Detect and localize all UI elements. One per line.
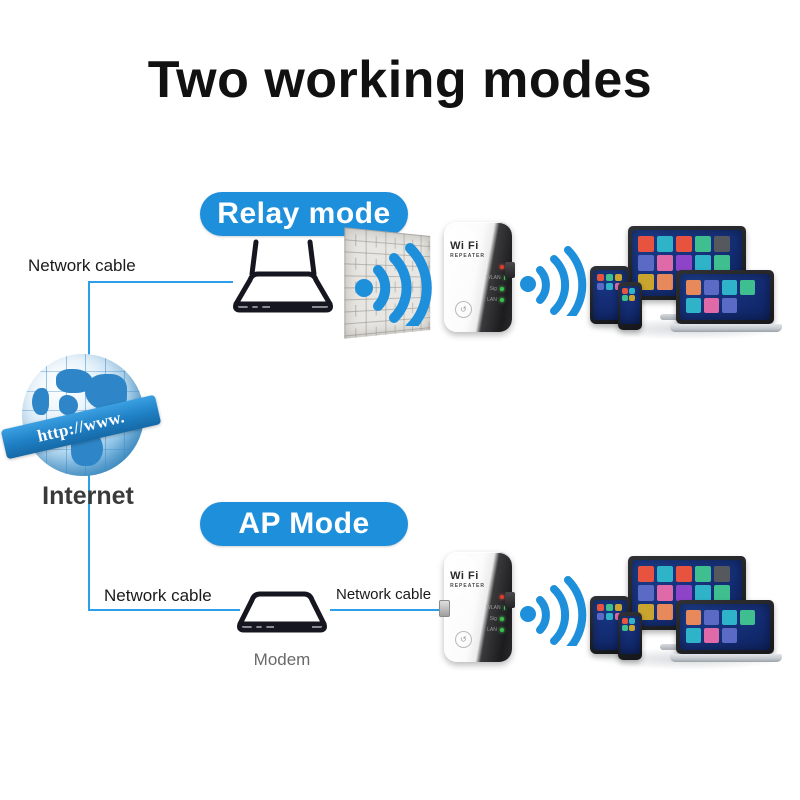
wifi-router-icon bbox=[226, 238, 338, 324]
led-signal bbox=[500, 287, 504, 291]
app-tile bbox=[638, 255, 654, 271]
app-tile bbox=[686, 280, 701, 295]
app-tile bbox=[676, 585, 692, 601]
app-tile bbox=[657, 604, 673, 620]
app-tile bbox=[597, 604, 604, 611]
laptop-screen bbox=[680, 274, 770, 320]
cable-modem-to-repeater bbox=[330, 609, 440, 611]
repeater-brand-ap: Wi Fi REPEATER bbox=[450, 571, 489, 589]
app-tile bbox=[606, 283, 613, 290]
app-tile bbox=[629, 618, 635, 624]
app-tile bbox=[629, 295, 635, 301]
led-label-wlan: WLAN bbox=[486, 275, 500, 281]
internet-label: Internet bbox=[8, 482, 168, 511]
modem-label: Modem bbox=[232, 650, 332, 670]
app-tile bbox=[597, 274, 604, 281]
app-tile bbox=[622, 288, 628, 294]
app-tile bbox=[606, 604, 613, 611]
app-tile bbox=[657, 274, 673, 290]
wps-button-icon-ap[interactable]: ↺ bbox=[455, 631, 472, 648]
app-tile bbox=[657, 255, 673, 271]
globe-icon: http://www. bbox=[8, 352, 168, 482]
repeater-brand-line2: REPEATER bbox=[450, 254, 489, 259]
app-tile bbox=[722, 280, 737, 295]
repeater-led-panel: WLAN Sig LAN bbox=[486, 262, 504, 306]
laptop-tiles bbox=[686, 280, 764, 313]
cable-label-relay: Network cable bbox=[28, 256, 136, 276]
relay-mode-label: Relay mode bbox=[217, 197, 390, 231]
led-power-ap bbox=[500, 595, 504, 599]
repeater-brand-ap-line2: REPEATER bbox=[450, 584, 489, 589]
app-tile bbox=[638, 236, 654, 252]
wifi-signal-relay-out-icon bbox=[516, 244, 588, 316]
app-tile bbox=[606, 613, 613, 620]
app-tile bbox=[657, 566, 673, 582]
relay-mode-pill[interactable]: Relay mode bbox=[200, 192, 408, 236]
wifi-repeater-ap: Wi Fi REPEATER WLAN Sig LAN ↺ bbox=[444, 552, 512, 662]
app-tile bbox=[657, 585, 673, 601]
phone-screen bbox=[620, 286, 640, 324]
led-label-wlan-ap: WLAN bbox=[486, 605, 500, 611]
laptop-tiles-ap bbox=[686, 610, 764, 643]
app-tile bbox=[686, 628, 701, 643]
led-label-signal-ap: Sig bbox=[490, 616, 497, 622]
app-tile bbox=[676, 255, 692, 271]
app-tile bbox=[676, 236, 692, 252]
led-label-lan-ap: LAN bbox=[487, 627, 497, 633]
app-tile bbox=[629, 288, 635, 294]
app-tile bbox=[622, 295, 628, 301]
led-power bbox=[500, 265, 504, 269]
app-tile bbox=[695, 585, 711, 601]
app-tile bbox=[629, 625, 635, 631]
app-tile bbox=[714, 255, 730, 271]
app-tile bbox=[606, 274, 613, 281]
wifi-signal-through-wall-icon bbox=[348, 242, 434, 326]
led-label-signal: Sig bbox=[490, 286, 497, 292]
app-tile bbox=[597, 613, 604, 620]
app-tile bbox=[695, 255, 711, 271]
app-tile bbox=[657, 236, 673, 252]
app-tile bbox=[695, 566, 711, 582]
app-tile bbox=[597, 283, 604, 290]
app-tile bbox=[704, 628, 719, 643]
wps-button-icon[interactable]: ↺ bbox=[455, 301, 472, 318]
app-tile bbox=[714, 236, 730, 252]
led-lan bbox=[500, 298, 504, 302]
modem-icon bbox=[232, 586, 332, 642]
phone-screen-ap bbox=[620, 616, 640, 654]
wifi-signal-ap-out-icon bbox=[516, 574, 588, 646]
app-tile bbox=[740, 280, 755, 295]
ethernet-port bbox=[439, 600, 450, 617]
app-tile bbox=[740, 610, 755, 625]
led-lan-ap bbox=[500, 628, 504, 632]
app-tile bbox=[722, 628, 737, 643]
ap-mode-label: AP Mode bbox=[238, 507, 369, 541]
app-tile bbox=[615, 604, 622, 611]
repeater-brand: Wi Fi REPEATER bbox=[450, 241, 489, 259]
infographic-canvas: Two working modes Network cable Network … bbox=[0, 0, 800, 800]
app-tile bbox=[722, 298, 737, 313]
app-tile bbox=[704, 280, 719, 295]
app-tile bbox=[704, 298, 719, 313]
app-tile bbox=[686, 298, 701, 313]
devices-cluster-ap bbox=[588, 556, 788, 666]
app-tile bbox=[676, 566, 692, 582]
led-signal-ap bbox=[500, 617, 504, 621]
repeater-brand-line1: Wi Fi bbox=[450, 241, 489, 252]
app-tile bbox=[714, 566, 730, 582]
app-tile bbox=[714, 585, 730, 601]
app-tile bbox=[615, 274, 622, 281]
app-tile bbox=[638, 566, 654, 582]
app-tile bbox=[695, 236, 711, 252]
repeater-led-panel-ap: WLAN Sig LAN bbox=[486, 592, 504, 636]
repeater-brand-ap-line1: Wi Fi bbox=[450, 571, 489, 582]
led-label-lan: LAN bbox=[487, 297, 497, 303]
app-tile bbox=[722, 610, 737, 625]
app-tile bbox=[638, 585, 654, 601]
cable-relay-horizontal bbox=[88, 281, 233, 283]
devices-cluster-relay bbox=[588, 226, 788, 336]
phone-tiles bbox=[622, 288, 638, 301]
page-title: Two working modes bbox=[0, 52, 800, 109]
ap-mode-pill[interactable]: AP Mode bbox=[200, 502, 408, 546]
app-tile bbox=[622, 618, 628, 624]
repeater-plug bbox=[505, 262, 515, 278]
wifi-repeater-relay: Wi Fi REPEATER WLAN Sig LAN ↺ bbox=[444, 222, 512, 332]
cable-ap-horizontal bbox=[88, 609, 240, 611]
app-tile bbox=[704, 610, 719, 625]
phone-tiles-ap bbox=[622, 618, 638, 631]
laptop-screen-ap bbox=[680, 604, 770, 650]
cable-label-ap-2: Network cable bbox=[336, 586, 431, 603]
repeater-plug-ap bbox=[505, 592, 515, 608]
app-tile bbox=[686, 610, 701, 625]
cable-label-ap-1: Network cable bbox=[104, 586, 212, 606]
app-tile bbox=[622, 625, 628, 631]
